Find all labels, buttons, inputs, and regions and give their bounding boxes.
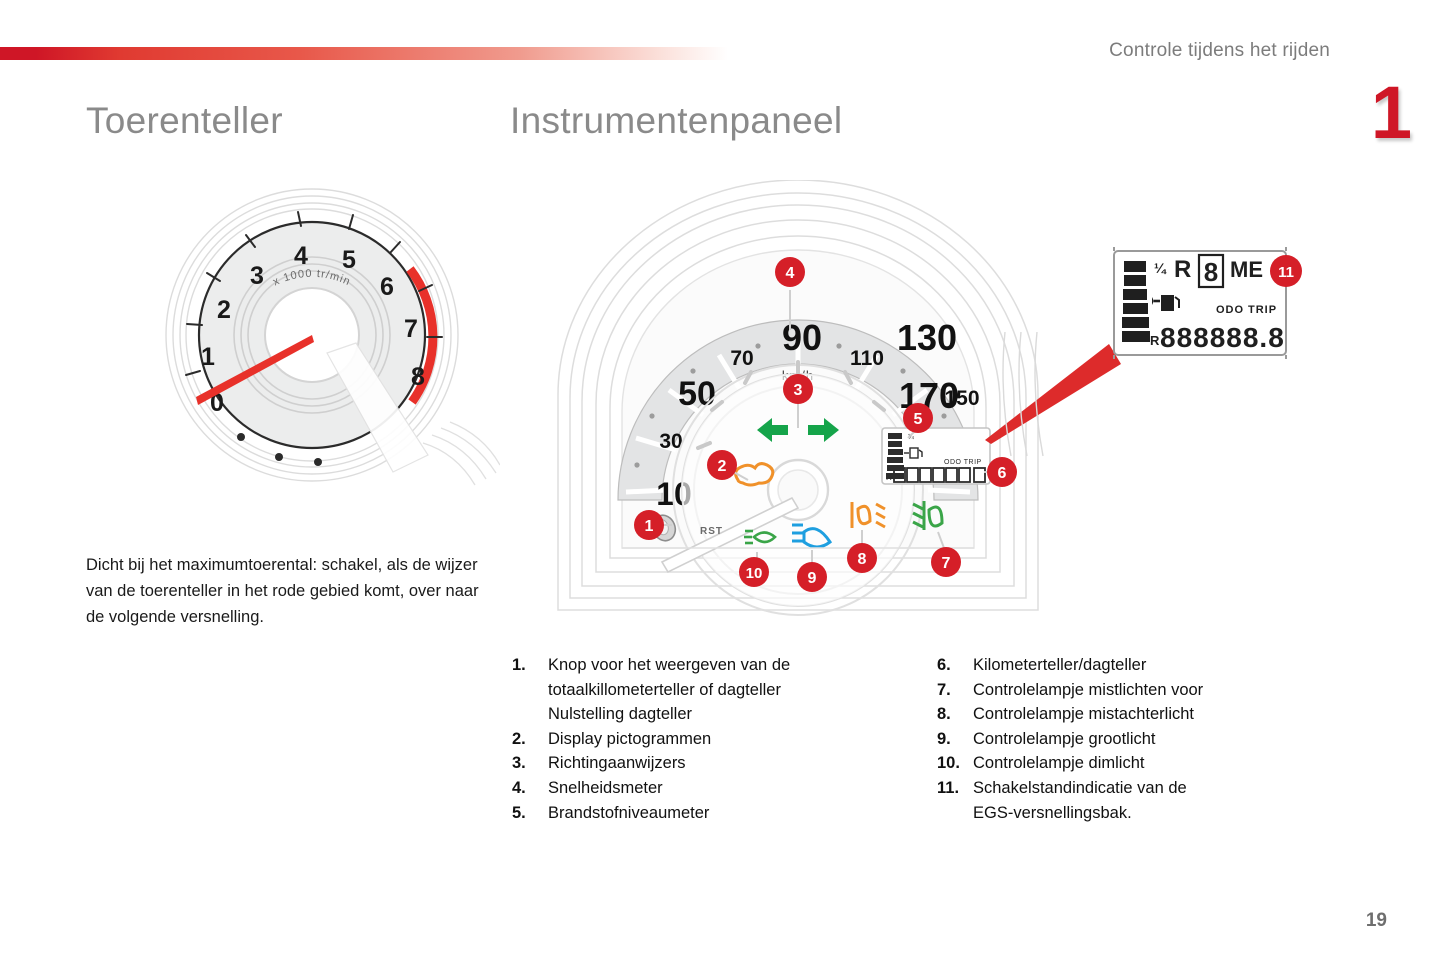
tachometer-illustration: 0 1 2 3 4 5 6 7 8 x 1000 tr/min [160,185,500,525]
legend-item-number: 4. [510,776,548,801]
legend-item: 2.Display pictogrammen [510,727,930,752]
lcd-odometer-digits: 888888.8 [1160,322,1285,353]
cluster-range-prefix: R [886,473,892,482]
svg-text:50: 50 [678,375,716,413]
legend-item-line: Controlelampje mistlichten voor [973,678,1365,703]
lcd-range-prefix: R [1150,333,1160,348]
callout-badge-11[interactable]: 11 [1270,255,1302,287]
legend-item-text: Kilometerteller/dagteller [973,653,1365,678]
svg-text:5: 5 [914,411,923,428]
svg-text:2: 2 [718,458,727,475]
legend-item-line: totaalkillometerteller of dagteller [548,678,930,703]
svg-text:10: 10 [746,565,763,582]
svg-text:6: 6 [380,273,394,301]
legend-item: 9.Controlelampje grootlicht [935,727,1365,752]
legend-item: 11.Schakelstandindicatie van deEGS-versn… [935,776,1365,825]
gear-position-lcd-detail: ¼ R 8 ME ODO TRIP R 888888.8 [1108,243,1318,368]
svg-text:3: 3 [794,382,803,399]
tachometer-caption: Dicht bij het maximumtoerental: schakel,… [86,552,486,630]
svg-text:3: 3 [250,262,264,290]
legend-item: 5.Brandstofniveaumeter [510,801,930,826]
lcd-trip-label: TRIP [1248,304,1277,316]
svg-text:8: 8 [858,551,867,568]
svg-text:90: 90 [782,317,822,358]
legend-item: 7.Controlelampje mistlichten voor [935,678,1365,703]
legend-item-number: 1. [510,653,548,678]
svg-text:2: 2 [217,296,231,324]
svg-text:5: 5 [342,246,356,274]
legend-item-number: 9. [935,727,973,752]
legend-item-number: 3. [510,751,548,776]
manual-page: Controle tijdens het rijden 1 Toerentell… [0,0,1445,964]
svg-text:1: 1 [201,343,215,371]
legend-item-line: Controlelampje dimlicht [973,751,1365,776]
legend-item-text: Controlelampje mistlichten voor [973,678,1365,703]
legend-item: 6.Kilometerteller/dagteller [935,653,1365,678]
legend-item-text: Controlelampje dimlicht [973,751,1365,776]
legend-item-number: 2. [510,727,548,752]
lcd-fraction-label: ¼ [1154,260,1167,276]
svg-text:4: 4 [294,242,308,270]
gear-position-lcd-svg: ¼ R 8 ME ODO TRIP R 888888.8 [1108,243,1318,368]
legend-column-left: 1.Knop voor het weergeven van detotaalki… [510,653,930,825]
legend-item: 10.Controlelampje dimlicht [935,751,1365,776]
svg-text:6: 6 [998,465,1007,482]
legend-item-line: Nulstelling dagteller [548,702,930,727]
trip-reset-button-label: RST [700,526,723,537]
legend-item-text: Snelheidsmeter [548,776,930,801]
legend-item-text: Schakelstandindicatie van deEGS-versnell… [973,776,1365,825]
instrument-cluster-svg: 10 30 50 70 90 110 130 150 170 km/h [552,180,1044,620]
svg-text:1: 1 [645,518,654,535]
svg-text:7: 7 [404,315,418,343]
tachometer-svg: 0 1 2 3 4 5 6 7 8 x 1000 tr/min [160,185,500,525]
legend-item-line: Brandstofniveaumeter [548,801,930,826]
svg-text:8: 8 [411,363,425,391]
header-accent-bar [0,47,728,60]
chapter-number-badge: 1 [1371,76,1409,150]
lcd-reverse-label: R [1174,256,1191,283]
legend-item-text: Knop voor het weergeven van detotaalkill… [548,653,930,727]
legend-item-number: 5. [510,801,548,826]
legend-item-number: 7. [935,678,973,703]
cluster-odometer-display: ¼ ODO TRIP R [882,428,990,484]
svg-text:110: 110 [850,347,884,370]
legend-item-number: 8. [935,702,973,727]
legend-item-line: Schakelstandindicatie van de [973,776,1365,801]
legend-item: 3.Richtingaanwijzers [510,751,930,776]
svg-text:7: 7 [942,555,951,572]
section-title-instrument-panel: Instrumentenpaneel [510,100,842,142]
legend-item-text: Brandstofniveaumeter [548,801,930,826]
svg-text:130: 130 [897,317,957,358]
svg-text:70: 70 [730,347,753,370]
svg-text:9: 9 [808,570,817,587]
lcd-odo-label: ODO [1216,304,1244,316]
legend-item-line: Knop voor het weergeven van de [548,653,930,678]
legend-item-line: Kilometerteller/dagteller [973,653,1365,678]
svg-text:4: 4 [786,265,795,282]
legend-item: 1.Knop voor het weergeven van detotaalki… [510,653,930,727]
lcd-gear-value: 8 [1204,257,1218,287]
svg-text:888888.8: 888888.8 [1160,322,1285,353]
cluster-odo-label: ODO TRIP [944,459,982,466]
legend-item-number: 6. [935,653,973,678]
svg-text:11: 11 [1278,264,1294,281]
legend-item-text: Richtingaanwijzers [548,751,930,776]
legend-column-right: 6.Kilometerteller/dagteller7.Controlelam… [935,653,1365,825]
lcd-mode-label: ME [1230,257,1263,282]
running-header-title: Controle tijdens het rijden [1109,40,1330,62]
legend-item-text: Display pictogrammen [548,727,930,752]
legend-item-number: 10. [935,751,973,776]
legend-item-text: Controlelampje grootlicht [973,727,1365,752]
legend-item-line: Controlelampje grootlicht [973,727,1365,752]
legend-item: 8.Controlelampje mistachterlicht [935,702,1365,727]
legend-item-line: Richtingaanwijzers [548,751,930,776]
section-title-tachometer: Toerenteller [86,100,283,142]
tachometer-cable-lines [423,422,500,485]
legend-item: 4.Snelheidsmeter [510,776,930,801]
instrument-cluster-illustration: 10 30 50 70 90 110 130 150 170 km/h [552,180,1044,620]
legend-item-text: Controlelampje mistachterlicht [973,702,1365,727]
legend-item-line: EGS-versnellingsbak. [973,801,1365,826]
legend-item-line: Controlelampje mistachterlicht [973,702,1365,727]
page-number: 19 [1366,910,1387,932]
legend-item-number: 11. [935,776,973,801]
legend-item-line: Display pictogrammen [548,727,930,752]
legend-item-line: Snelheidsmeter [548,776,930,801]
